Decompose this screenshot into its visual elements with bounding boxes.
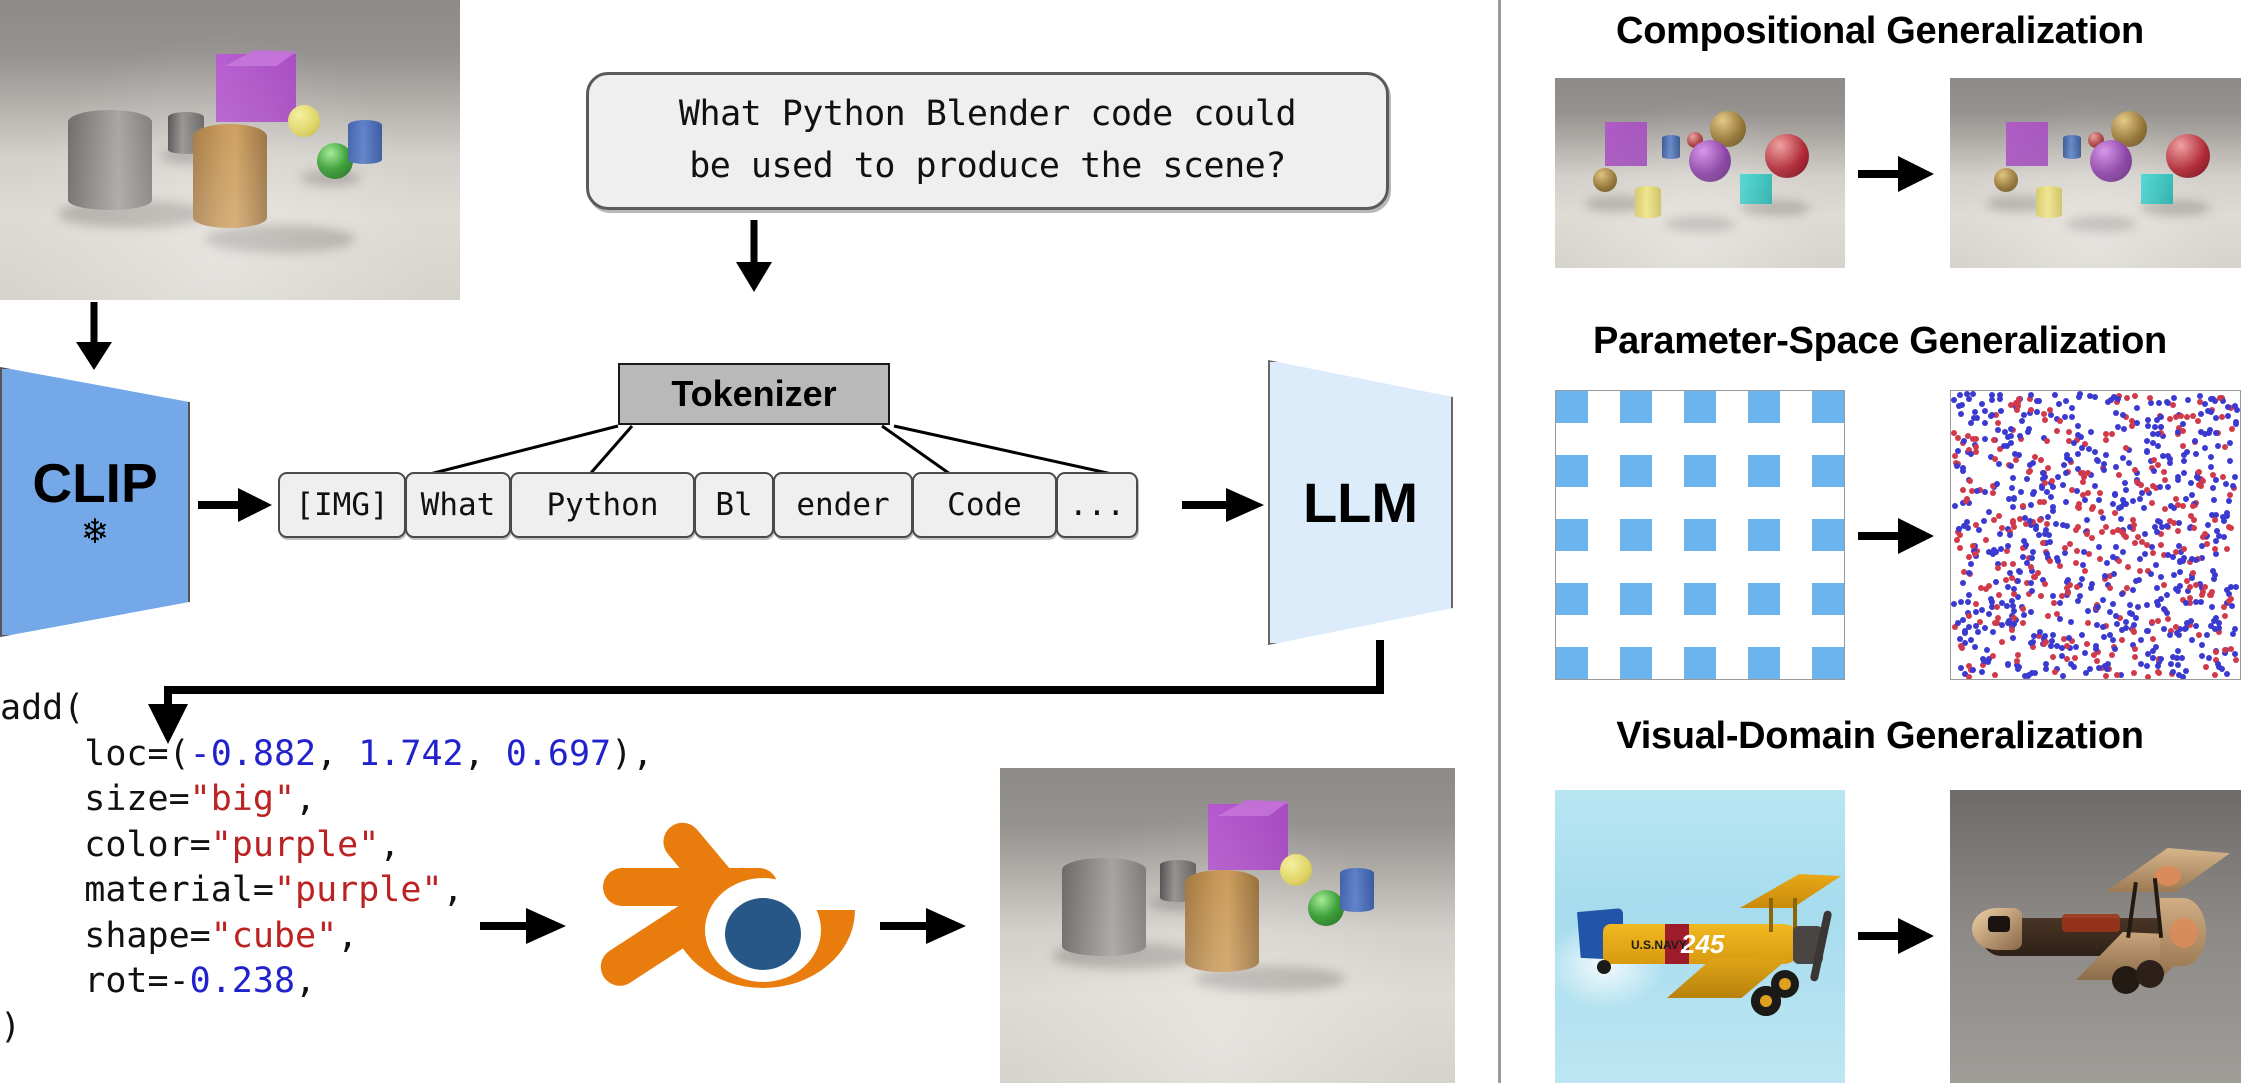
scatter-dot-red — [2150, 550, 2156, 556]
grid-gap — [1652, 487, 1684, 519]
scatter-dot-blue — [2062, 414, 2068, 420]
scatter-dot-blue — [2232, 474, 2238, 480]
scatter-dot-red — [1996, 513, 2002, 519]
scatter-dot-blue — [1979, 607, 1985, 613]
out-object-blue-cylinder — [1340, 868, 1374, 912]
scatter-dot-blue — [2028, 609, 2034, 615]
llm-label: LLM — [1303, 470, 1418, 535]
scatter-dot-red — [1995, 615, 2001, 621]
scatter-dot-red — [2103, 437, 2109, 443]
scatter-dot-red — [1973, 444, 1979, 450]
scatter-dot-red — [2103, 673, 2109, 679]
object-blue-cylinder — [348, 120, 382, 164]
grid-gap — [1780, 583, 1812, 615]
scatter-dot-blue — [2232, 651, 2238, 657]
scatter-dot-blue — [2030, 491, 2036, 497]
scatter-dot-blue — [2119, 591, 2125, 597]
scatter-dot-blue — [2225, 404, 2231, 410]
scatter-dot-red — [2057, 563, 2063, 569]
scatter-dot-blue — [2142, 531, 2148, 537]
scatter-dot-red — [2162, 477, 2168, 483]
scatter-dot-red — [2203, 664, 2209, 670]
scatter-dot-blue — [2096, 544, 2102, 550]
clevr-output-scene — [1000, 768, 1455, 1083]
scatter-dot-red — [2047, 558, 2053, 564]
scatter-dot-blue — [2175, 662, 2181, 668]
scatter-dot-red — [1990, 653, 1996, 659]
scatter-dot-red — [1967, 478, 1973, 484]
scatter-dot-blue — [2082, 650, 2088, 656]
scatter-dot-blue — [2145, 423, 2151, 429]
scatter-dot-red — [2132, 540, 2138, 546]
scatter-dot-red — [2074, 584, 2080, 590]
scatter-dot-blue — [2188, 480, 2194, 486]
token-chip-4[interactable]: ender — [773, 472, 913, 538]
scatter-dot-red — [2139, 539, 2145, 545]
grid-square — [1812, 647, 1844, 679]
scatter-dot-red — [2195, 418, 2201, 424]
object-purple-cube — [216, 54, 296, 122]
scatter-dot-blue — [2189, 637, 2195, 643]
scatter-dot-blue — [2024, 476, 2030, 482]
grid-square — [1684, 583, 1716, 615]
scatter-dot-blue — [2093, 646, 2099, 652]
scatter-dot-blue — [2193, 599, 2199, 605]
scatter-dot-blue — [2123, 619, 2129, 625]
scatter-dot-blue — [1958, 411, 1964, 417]
scatter-dot-blue — [2113, 410, 2119, 416]
grid-square — [1812, 455, 1844, 487]
grid-gap — [1556, 423, 1588, 455]
scatter-dot-red — [2165, 616, 2171, 622]
scatter-dot-red — [2191, 525, 2197, 531]
scatter-dot-red — [2161, 582, 2167, 588]
scatter-dot-blue — [1980, 656, 1986, 662]
scatter-dot-blue — [1999, 622, 2005, 628]
scatter-dot-red — [2200, 478, 2206, 484]
scatter-dot-blue — [2138, 661, 2144, 667]
token-chip-6[interactable]: ... — [1056, 472, 1138, 538]
out-object-gray-cylinder-large — [1062, 858, 1146, 956]
scatter-dot-blue — [2158, 414, 2164, 420]
grid-gap — [1588, 583, 1620, 615]
scatter-dot-blue — [2050, 593, 2056, 599]
blender-logo — [575, 790, 865, 1010]
scatter-dot-blue — [2208, 464, 2214, 470]
scatter-dot-red — [2085, 490, 2091, 496]
scatter-dot-blue — [2120, 412, 2126, 418]
scatter-dot-blue — [2153, 644, 2159, 650]
scatter-dot-red — [2138, 482, 2144, 488]
cs-purple-cube — [1605, 122, 1647, 166]
scatter-dot-blue — [2199, 642, 2205, 648]
scatter-dot-red — [2124, 395, 2130, 401]
scatter-dot-red — [2044, 521, 2050, 527]
scatter-dot-red — [2161, 469, 2167, 475]
scatter-dot-blue — [2100, 597, 2106, 603]
scatter-dot-blue — [2082, 497, 2088, 503]
scatter-dot-red — [1973, 601, 1979, 607]
scatter-dot-red — [2089, 506, 2095, 512]
scatter-dot-blue — [2060, 482, 2066, 488]
object-gray-cylinder-small — [168, 112, 204, 154]
scatter-dot-blue — [2233, 421, 2239, 427]
scatter-dot-blue — [2050, 484, 2056, 490]
render-tail-roundel — [2170, 918, 2198, 948]
scatter-dot-blue — [2183, 496, 2189, 502]
scatter-dot-blue — [2180, 558, 2186, 564]
grid-square — [1620, 455, 1652, 487]
grid-gap — [1780, 615, 1812, 647]
scatter-dot-blue — [2015, 578, 2021, 584]
scatter-dot-blue — [2183, 668, 2189, 674]
scatter-dot-blue — [1965, 525, 1971, 531]
scatter-dot-blue — [1988, 413, 1994, 419]
scatter-dot-red — [2067, 582, 2073, 588]
scatter-dot-blue — [2120, 549, 2126, 555]
scatter-dot-red — [2032, 454, 2038, 460]
scatter-dot-blue — [2010, 504, 2016, 510]
grid-square — [1556, 519, 1588, 551]
grid-gap — [1684, 551, 1716, 583]
grid-gap — [1620, 615, 1652, 647]
grid-square — [1812, 519, 1844, 551]
scatter-dot-blue — [2075, 423, 2081, 429]
scatter-dot-blue — [2115, 396, 2121, 402]
scatter-dot-red — [2145, 674, 2151, 680]
section-title-parameter-space: Parameter-Space Generalization — [1510, 320, 2241, 363]
scatter-dot-blue — [2079, 632, 2085, 638]
scatter-dot-red — [2074, 548, 2080, 554]
scatter-dot-red — [1957, 545, 1963, 551]
grid-square — [1684, 391, 1716, 423]
scatter-dot-blue — [1993, 579, 1999, 585]
scatter-dot-blue — [2141, 505, 2147, 511]
scatter-dot-red — [2196, 469, 2202, 475]
tokenizer-label: Tokenizer — [671, 373, 836, 415]
scatter-dot-blue — [2094, 622, 2100, 628]
scatter-dot-blue — [2073, 644, 2079, 650]
scatter-dot-blue — [2180, 421, 2186, 427]
scatter-dot-blue — [1997, 396, 2003, 402]
scatter-dot-blue — [2211, 497, 2217, 503]
scatter-dot-blue — [1964, 391, 1970, 397]
scatter-dot-red — [2190, 503, 2196, 509]
scatter-dot-blue — [2227, 440, 2233, 446]
render-engine-detail — [2062, 914, 2120, 932]
scatter-dot-blue — [2083, 670, 2089, 676]
scatter-dot-red — [2065, 590, 2071, 596]
cg-red-sphere-large — [2166, 134, 2210, 178]
scatter-dot-blue — [2113, 544, 2119, 550]
token-chip-1[interactable]: What — [405, 472, 511, 538]
scatter-dot-blue — [2021, 612, 2027, 618]
scatter-dot-blue — [2096, 497, 2102, 503]
grid-square — [1620, 583, 1652, 615]
scatter-dot-red — [2137, 568, 2143, 574]
scatter-dot-red — [2123, 445, 2129, 451]
scatter-dot-blue — [2045, 514, 2051, 520]
scatter-dot-red — [2041, 411, 2047, 417]
grid-gap — [1812, 487, 1844, 519]
scatter-dot-blue — [2101, 467, 2107, 473]
prompt-line-2: be used to produce the scene? — [689, 146, 1286, 186]
grid-gap — [1588, 487, 1620, 519]
scatter-dot-blue — [2153, 562, 2159, 568]
scatter-dot-blue — [2061, 462, 2067, 468]
grid-gap — [1812, 615, 1844, 647]
grid-gap — [1716, 423, 1748, 455]
scatter-dot-blue — [2171, 395, 2177, 401]
code-line: size="big", — [0, 777, 653, 823]
scatter-dot-red — [2015, 652, 2021, 658]
scatter-dot-blue — [2177, 569, 2183, 575]
scatter-dot-blue — [1956, 526, 1962, 532]
cs-red-sphere-large — [1765, 134, 1809, 178]
scatter-dot-blue — [2115, 424, 2121, 430]
scatter-dot-blue — [2063, 499, 2069, 505]
grid-gap — [1556, 487, 1588, 519]
scatter-dot-blue — [1951, 601, 1957, 607]
scatter-dot-blue — [2189, 575, 2195, 581]
scatter-dot-blue — [2008, 463, 2014, 469]
scatter-dot-red — [2038, 593, 2044, 599]
scatter-dot-blue — [2067, 457, 2073, 463]
scatter-dot-blue — [2081, 549, 2087, 555]
scatter-dot-blue — [2068, 619, 2074, 625]
scatter-dot-blue — [1986, 509, 1992, 515]
scatter-dot-blue — [2133, 578, 2139, 584]
scatter-dot-red — [2099, 529, 2105, 535]
token-sequence: [IMG] What Python Bl ender Code ... — [278, 472, 1137, 538]
scatter-dot-blue — [2219, 666, 2225, 672]
scatter-dot-blue — [2036, 398, 2042, 404]
clip-label: CLIP — [32, 456, 157, 511]
grid-gap — [1684, 615, 1716, 647]
scatter-dot-blue — [2034, 409, 2040, 415]
scatter-dot-red — [1995, 565, 2001, 571]
scatter-dot-red — [2188, 513, 2194, 519]
scatter-dot-blue — [2127, 602, 2133, 608]
visual-domain-photo: 245 U.S.NAVY — [1555, 790, 1845, 1083]
token-chip-3[interactable]: Bl — [694, 472, 774, 538]
render-cockpit — [1988, 916, 2010, 932]
scatter-dot-red — [1994, 604, 2000, 610]
scatter-dot-blue — [2084, 517, 2090, 523]
object-gray-cylinder-large — [68, 110, 152, 210]
scatter-dot-blue — [2193, 451, 2199, 457]
grid-gap — [1780, 391, 1812, 423]
grid-gap — [1748, 423, 1780, 455]
scatter-dot-red — [2131, 670, 2137, 676]
scatter-dot-blue — [1991, 547, 1997, 553]
grid-gap — [1652, 551, 1684, 583]
scatter-dot-blue — [2101, 461, 2107, 467]
scatter-dot-red — [2042, 581, 2048, 587]
token-chip-0[interactable]: [IMG] — [278, 472, 406, 538]
scatter-dot-blue — [2005, 584, 2011, 590]
scatter-dot-blue — [2017, 433, 2023, 439]
scatter-dot-blue — [2080, 562, 2086, 568]
grid-gap — [1716, 583, 1748, 615]
grid-gap — [1620, 551, 1652, 583]
scatter-dot-blue — [2202, 401, 2208, 407]
scatter-dot-blue — [2160, 453, 2166, 459]
scatter-dot-blue — [2092, 394, 2098, 400]
scatter-dot-red — [2175, 502, 2181, 508]
scatter-dot-red — [2001, 561, 2007, 567]
scatter-dot-blue — [2173, 586, 2179, 592]
scatter-dot-blue — [2043, 666, 2049, 672]
scatter-dot-blue — [2011, 608, 2017, 614]
parameter-scatter-pattern — [1950, 390, 2241, 680]
scatter-dot-blue — [2130, 587, 2136, 593]
scatter-dot-red — [2155, 618, 2161, 624]
grid-gap — [1780, 551, 1812, 583]
scatter-dot-blue — [2181, 470, 2187, 476]
scatter-dot-blue — [2060, 673, 2066, 679]
scatter-dot-red — [2037, 517, 2043, 523]
scatter-dot-blue — [2023, 542, 2029, 548]
scatter-dot-red — [2162, 506, 2168, 512]
scatter-dot-red — [2180, 443, 2186, 449]
scatter-dot-blue — [2046, 532, 2052, 538]
scatter-dot-blue — [2050, 508, 2056, 514]
code-line: loc=(-0.882, 1.742, 0.697), — [0, 732, 653, 778]
scatter-dot-red — [2220, 474, 2226, 480]
scatter-dot-blue — [2018, 489, 2024, 495]
scatter-dot-blue — [2213, 538, 2219, 544]
scatter-dot-blue — [1975, 629, 1981, 635]
grid-gap — [1556, 551, 1588, 583]
scatter-dot-blue — [2164, 592, 2170, 598]
grid-gap — [1716, 551, 1748, 583]
scatter-dot-blue — [2071, 440, 2077, 446]
scatter-dot-blue — [2048, 494, 2054, 500]
grid-gap — [1748, 487, 1780, 519]
grid-gap — [1588, 423, 1620, 455]
scatter-dot-blue — [2001, 443, 2007, 449]
grid-gap — [1812, 551, 1844, 583]
scatter-dot-blue — [2016, 664, 2022, 670]
scatter-dot-red — [2173, 549, 2179, 555]
scatter-dot-red — [2089, 535, 2095, 541]
arrow-code-to-blender — [480, 900, 570, 952]
object-brown-cylinder-large — [193, 124, 267, 228]
cs-gold-sphere-small — [1593, 168, 1617, 192]
snowflake-icon: ❄ — [81, 515, 110, 549]
scatter-dot-blue — [1984, 647, 1990, 653]
scatter-dot-blue — [2008, 433, 2014, 439]
grid-gap — [1620, 487, 1652, 519]
scatter-dot-blue — [2176, 632, 2182, 638]
scatter-dot-blue — [2029, 588, 2035, 594]
scatter-dot-red — [2213, 649, 2219, 655]
token-chip-5[interactable]: Code — [912, 472, 1057, 538]
scatter-dot-blue — [1955, 448, 1961, 454]
cg-yellow-cylinder — [2036, 186, 2062, 218]
scatter-dot-red — [2009, 627, 2015, 633]
scatter-dot-blue — [2189, 492, 2195, 498]
scatter-dot-blue — [2149, 544, 2155, 550]
scatter-dot-blue — [2233, 584, 2239, 590]
compositional-generated-scene — [1950, 78, 2241, 268]
scatter-dot-red — [2103, 524, 2109, 530]
scatter-dot-blue — [2107, 609, 2113, 615]
grid-square — [1620, 647, 1652, 679]
scatter-dot-red — [2020, 620, 2026, 626]
scatter-dot-red — [2097, 556, 2103, 562]
token-chip-2[interactable]: Python — [510, 472, 695, 538]
arrow-prompt-to-tokenizer — [728, 218, 788, 294]
scatter-dot-blue — [2156, 400, 2162, 406]
scatter-dot-blue — [1979, 669, 1985, 675]
scatter-dot-red — [2221, 604, 2227, 610]
scatter-dot-blue — [2031, 633, 2037, 639]
scatter-dot-blue — [2175, 474, 2181, 480]
parameter-grid-pattern — [1555, 390, 1845, 680]
cg-gold-sphere-small — [1994, 168, 2018, 192]
scatter-dot-red — [2180, 428, 2186, 434]
scatter-dot-blue — [2096, 665, 2102, 671]
arrow-visual-domain — [1858, 912, 1938, 960]
scatter-dot-red — [2116, 558, 2122, 564]
scatter-dot-blue — [1960, 617, 1966, 623]
scatter-dot-blue — [2077, 593, 2083, 599]
tokenizer-box: Tokenizer — [618, 363, 890, 425]
grid-gap — [1684, 487, 1716, 519]
scatter-dot-blue — [2137, 496, 2143, 502]
tokenizer-fan-lines — [300, 424, 1220, 476]
cg-purple-cube — [2006, 122, 2048, 166]
scatter-dot-blue — [2123, 487, 2129, 493]
scatter-dot-red — [2228, 525, 2234, 531]
scatter-dot-red — [2184, 414, 2190, 420]
scatter-dot-blue — [2225, 413, 2231, 419]
cs-red-sphere-small — [1687, 132, 1703, 148]
scatter-dot-red — [2173, 414, 2179, 420]
scatter-dot-red — [2040, 540, 2046, 546]
scatter-dot-red — [2042, 417, 2048, 423]
scatter-dot-red — [1973, 522, 1979, 528]
scatter-dot-red — [2086, 551, 2092, 557]
out-object-brown-cylinder-large — [1185, 870, 1259, 972]
scatter-dot-red — [2085, 470, 2091, 476]
grid-gap — [1748, 615, 1780, 647]
scatter-dot-blue — [2157, 484, 2163, 490]
plane-upper-wing — [1731, 874, 1841, 908]
scatter-dot-red — [2084, 641, 2090, 647]
scatter-dot-blue — [1986, 611, 1992, 617]
scatter-dot-blue — [1989, 397, 1995, 403]
cg-blue-cylinder-metal — [2063, 135, 2081, 159]
scatter-dot-blue — [2123, 501, 2129, 507]
scatter-dot-blue — [2208, 454, 2214, 460]
grid-gap — [1748, 551, 1780, 583]
grid-square — [1620, 391, 1652, 423]
scatter-dot-red — [2224, 546, 2230, 552]
scatter-dot-red — [2132, 467, 2138, 473]
grid-square — [1748, 583, 1780, 615]
scatter-dot-blue — [1958, 599, 1964, 605]
scatter-dot-blue — [1961, 438, 1967, 444]
grid-gap — [1652, 423, 1684, 455]
scatter-dot-blue — [1966, 592, 1972, 598]
grid-square — [1556, 455, 1588, 487]
prompt-line-1: What Python Blender code could — [679, 94, 1296, 134]
scatter-dot-blue — [1974, 415, 1980, 421]
grid-gap — [1780, 455, 1812, 487]
